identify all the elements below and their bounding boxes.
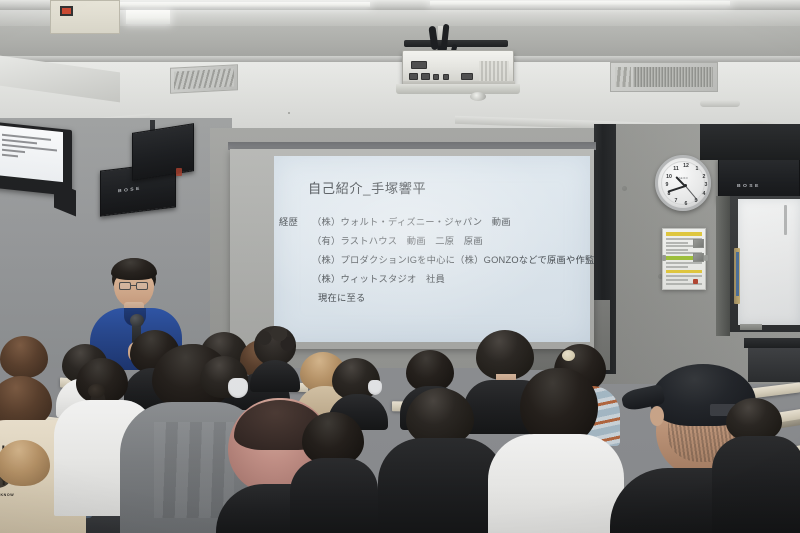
clock-numeral: 9 — [663, 182, 671, 188]
alarm-lamp-icon — [60, 6, 73, 16]
face-mask — [228, 378, 248, 398]
slide-body-line: 現在に至る — [318, 290, 366, 304]
ear — [650, 406, 664, 426]
audience-member — [716, 398, 800, 533]
projection-screen-surface: 自己紹介_手塚響平 経歴 （株）ウォルト・ディズニー・ジャパン 動画 （有）ラス… — [274, 156, 590, 342]
wall-clock: 12 1 2 3 4 5 6 7 8 9 10 11 SEIKO — [655, 155, 711, 211]
slide-body-line: （株）ウォルト・ディズニー・ジャパン 動画 — [312, 214, 511, 228]
whiteboard-marker-blue — [736, 252, 739, 296]
clock-numeral: 3 — [702, 182, 710, 188]
bose-speaker-left-upper — [132, 123, 194, 181]
slide-title: 自己紹介_手塚響平 — [308, 178, 426, 197]
whiteboard-tray — [740, 324, 762, 330]
bose-logo-right: BOSE — [737, 183, 761, 188]
notice-poster — [662, 228, 706, 290]
ceiling-vent-spacer-2 — [288, 112, 290, 114]
head-hair — [520, 368, 598, 444]
projector-lens — [470, 92, 486, 101]
desk-right-shelf — [744, 338, 800, 348]
ceiling-air-vent-left — [170, 64, 238, 94]
ceiling-light-strip-1 — [110, 2, 370, 7]
slide-body-line: （株）ウィットスタジオ 社員 — [312, 271, 445, 285]
whiteboard[interactable] — [738, 199, 800, 325]
audience-member — [296, 412, 372, 533]
clock-numeral: 4 — [700, 191, 708, 197]
clock-numeral: 1 — [693, 166, 701, 172]
hair-tie — [88, 384, 105, 398]
slide-body-line: （有）ラストハウス 動画 二原 原画 — [312, 233, 483, 247]
projection-screen: 自己紹介_手塚響平 経歴 （株）ウォルト・ディズニー・ジャパン 動画 （有）ラス… — [230, 149, 594, 349]
head-hair — [0, 440, 50, 486]
presenter-hair-top — [111, 258, 157, 280]
projector — [402, 50, 514, 86]
presenter-glasses-left-lens — [119, 282, 131, 290]
ceiling-light-strip-2 — [430, 1, 730, 6]
speaker-indicator-icon — [176, 168, 182, 176]
clock-numeral: 10 — [665, 174, 673, 180]
face-mask — [368, 380, 382, 395]
ceiling-sprinkler-plate — [700, 100, 740, 107]
audience-member — [0, 440, 70, 533]
projector-base — [396, 84, 520, 94]
hair-scrunchie — [562, 350, 575, 361]
clock-numeral: 11 — [672, 166, 680, 172]
ceiling-rail-lower — [0, 10, 800, 26]
slide-body-label: 経歴 — [279, 214, 298, 228]
lecture-hall-photograph: BOSE BOSE 12 1 2 3 4 5 6 7 8 9 10 11 SEI… — [0, 0, 800, 533]
audience-member — [382, 388, 500, 533]
fire-alarm-box — [50, 0, 120, 34]
clock-numeral: 12 — [682, 163, 690, 169]
clock-numeral: 7 — [672, 198, 680, 204]
ceiling-concrete-beam — [0, 26, 800, 60]
audience-member — [494, 368, 620, 533]
whiteboard-wall-return — [716, 196, 730, 336]
microphone-head — [130, 314, 144, 327]
body-shirt — [290, 458, 378, 533]
whiteboard-frame — [728, 196, 800, 332]
body-shirt — [712, 436, 800, 533]
side-monitor-screen — [0, 125, 63, 182]
clock-numeral: 2 — [700, 174, 708, 180]
presenter-glasses-bridge — [131, 285, 136, 286]
body-shirt — [488, 434, 624, 533]
head-hair — [0, 336, 48, 378]
body-shirt — [378, 438, 504, 533]
clock-numeral: 6 — [682, 201, 690, 207]
wall-right-upper-dark — [700, 124, 800, 160]
presenter-glasses-right-lens — [136, 282, 148, 290]
ceiling-air-vent-right — [610, 62, 718, 92]
slide-body-line: （株）プロダクションIGを中心に（株）GONZOなどで原画や作監 — [312, 252, 595, 266]
ceiling-light-panel — [126, 10, 170, 24]
bose-logo-left: BOSE — [118, 186, 142, 194]
